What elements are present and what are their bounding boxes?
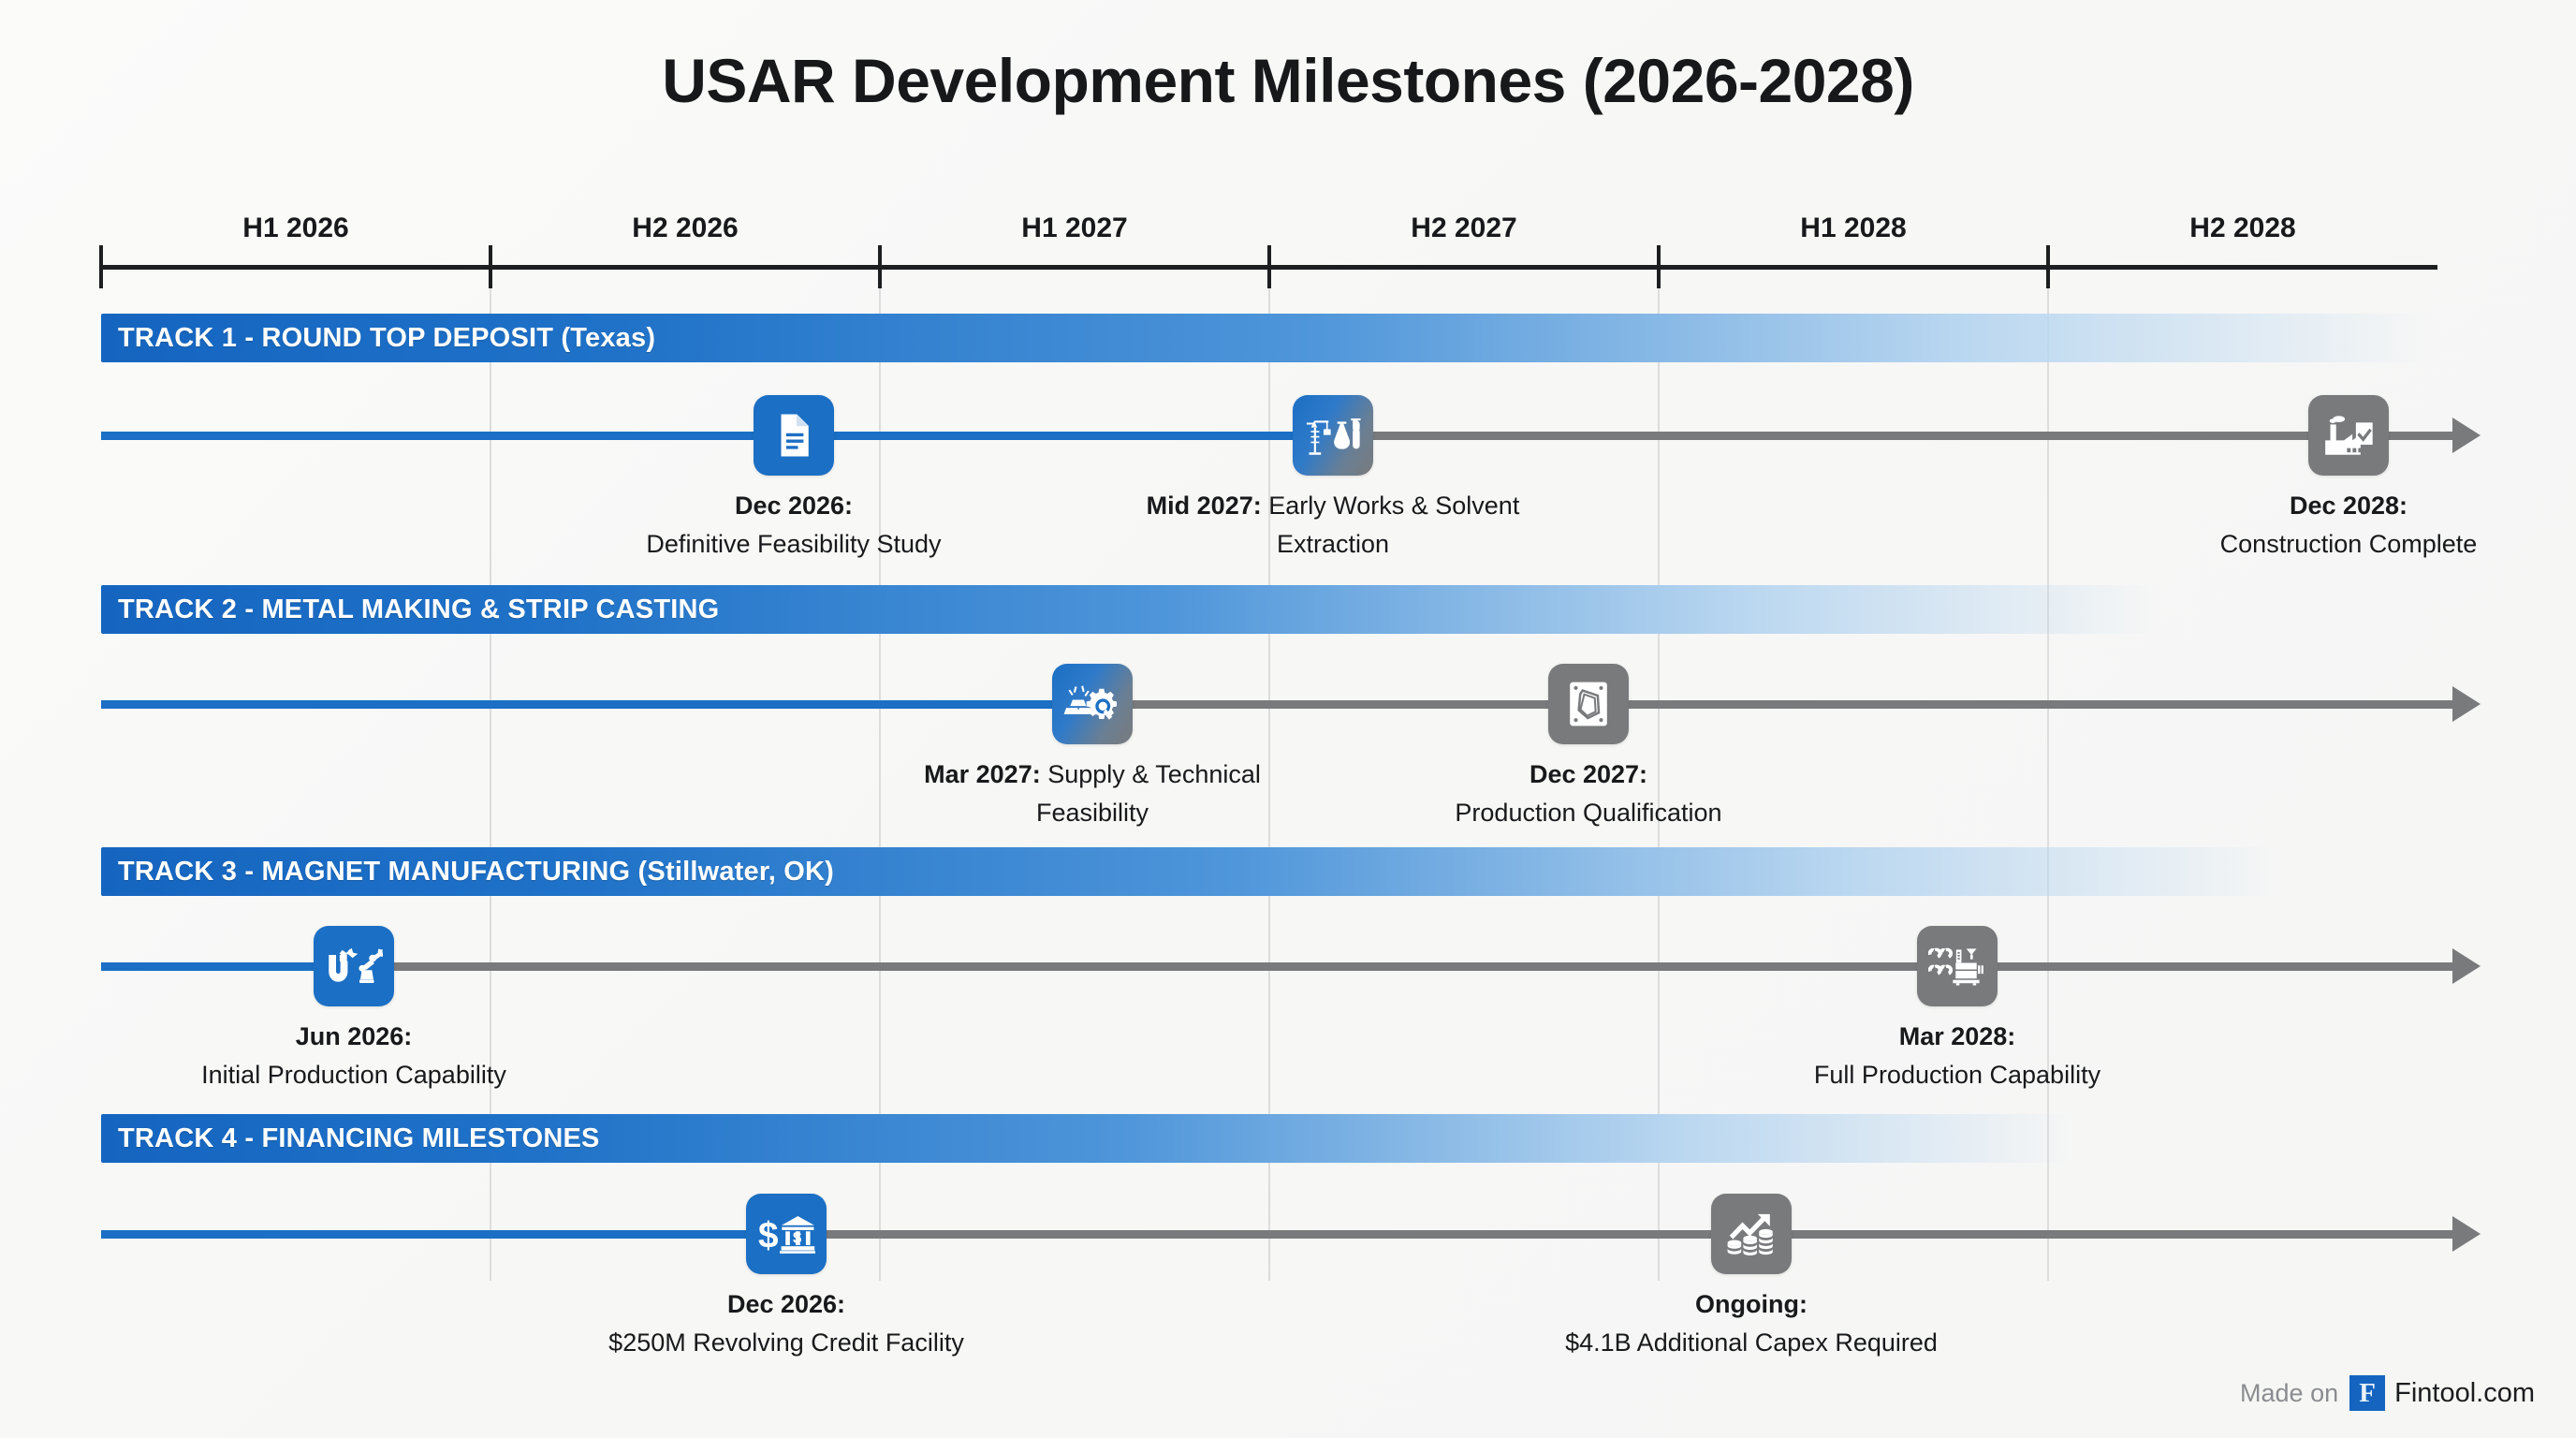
milestone-label: Jun 2026:Initial Production Capability	[0, 1018, 747, 1094]
milestone-label: Dec 2026:Definitive Feasibility Study	[401, 487, 1187, 564]
axis-period-label: H1 2027	[880, 213, 1269, 250]
milestone-date-line: Dec 2026:	[401, 487, 1187, 525]
track-header-label: TRACK 3 - MAGNET MANUFACTURING (Stillwat…	[118, 847, 834, 896]
axis-tick	[1267, 245, 1271, 288]
milestone-date: Dec 2028:	[2290, 492, 2408, 520]
track-header-label: TRACK 4 - FINANCING MILESTONES	[118, 1114, 600, 1163]
milestone-description: Initial Production Capability	[201, 1061, 506, 1089]
milestone-date-line: Dec 2027:	[1195, 756, 1982, 794]
track-header-bar: TRACK 4 - FINANCING MILESTONES	[101, 1114, 2076, 1163]
crane-lab-icon	[1293, 395, 1373, 476]
milestone-date: Mar 2028:	[1899, 1022, 2016, 1050]
track-arrow-icon	[2452, 418, 2481, 453]
axis-period-label: H2 2027	[1269, 213, 1659, 250]
axis-tick	[2046, 245, 2050, 288]
milestone-description: Definitive Feasibility Study	[646, 530, 941, 558]
factory-check-icon	[2308, 395, 2389, 476]
milestone-date: Dec 2026:	[735, 492, 853, 520]
track-header-bar: TRACK 3 - MAGNET MANUFACTURING (Stillwat…	[101, 847, 2282, 896]
axis-period-label: H2 2026	[490, 213, 880, 250]
milestone-date: Dec 2027:	[1529, 760, 1647, 788]
track-header-label: TRACK 1 - ROUND TOP DEPOSIT (Texas)	[118, 314, 655, 362]
milestone-date: Mar 2027:	[924, 760, 1041, 788]
axis-tick	[489, 245, 492, 288]
axis-period-label: H1 2028	[1659, 213, 2048, 250]
milestone-date: Mid 2027:	[1147, 492, 1262, 520]
document-icon	[754, 395, 834, 476]
milestone-date-line: Jun 2026:	[0, 1018, 747, 1056]
axis-period-label: H1 2026	[101, 213, 490, 250]
footer-brand-label: Fintool.com	[2394, 1378, 2535, 1409]
milestone-label: Mid 2027: Early Works & Solvent Extracti…	[1108, 487, 1558, 564]
milestone-description: Early Works & Solvent Extraction	[1268, 492, 1519, 558]
milestone-desc-line: Construction Complete	[1955, 525, 2576, 564]
milestone-description: $4.1B Additional Capex Required	[1565, 1328, 1938, 1357]
footer-made-on-label: Made on	[2240, 1379, 2338, 1408]
track-arrow-icon	[2452, 948, 2481, 984]
milestone-description: Construction Complete	[2220, 530, 2478, 558]
milestone-label: Mar 2028:Full Production Capability	[1564, 1018, 2350, 1094]
milestone-description: Full Production Capability	[1814, 1061, 2100, 1089]
fintool-logo-icon: F	[2349, 1375, 2385, 1411]
milestone-date-line: Dec 2028:	[1955, 487, 2576, 525]
track-header-bar: TRACK 2 - METAL MAKING & STRIP CASTING	[101, 585, 2160, 634]
milestone-desc-line: Definitive Feasibility Study	[401, 525, 1187, 564]
milestone-date: Ongoing:	[1695, 1290, 1808, 1318]
magnets-machine-icon	[1917, 926, 1998, 1006]
track-timeline-line	[101, 432, 2452, 440]
milestone-description: $250M Revolving Credit Facility	[608, 1328, 964, 1357]
track-arrow-icon	[2452, 686, 2481, 722]
milestone-label: Ongoing:$4.1B Additional Capex Required	[1358, 1285, 2144, 1362]
svg-text:$: $	[758, 1216, 779, 1256]
page-title: USAR Development Milestones (2026-2028)	[0, 45, 2576, 116]
milestone-label: Dec 2028:Construction Complete	[1955, 487, 2576, 564]
milestone-date-line: Dec 2026:	[393, 1285, 1179, 1324]
growth-coins-icon	[1711, 1194, 1792, 1274]
axis-period-label: H2 2028	[2048, 213, 2437, 250]
axis-tick	[1657, 245, 1661, 288]
ingot-gear-icon	[1052, 664, 1133, 744]
track-header-label: TRACK 2 - METAL MAKING & STRIP CASTING	[118, 585, 719, 634]
magnet-robot-icon	[314, 926, 394, 1006]
milestone-label: Dec 2026:$250M Revolving Credit Facility	[393, 1285, 1179, 1362]
milestone-desc-line: Initial Production Capability	[0, 1056, 747, 1094]
milestone-label: Dec 2027:Production Qualification	[1195, 756, 1982, 832]
milestone-desc-line: Production Qualification	[1195, 794, 1982, 832]
dollar-bank-icon: $ $	[746, 1194, 827, 1274]
timeline-axis-labels: H1 2026H2 2026H1 2027H2 2027H1 2028H2 20…	[101, 213, 2437, 250]
milestone-desc-line: $4.1B Additional Capex Required	[1358, 1324, 2144, 1362]
metal-strip-icon	[1548, 664, 1629, 744]
track-timeline-line	[101, 1230, 2452, 1239]
milestone-date: Dec 2026:	[727, 1290, 845, 1318]
footer-branding: Made on F Fintool.com	[2240, 1374, 2535, 1412]
milestone-date: Jun 2026:	[296, 1022, 413, 1050]
track-timeline-line	[101, 962, 2452, 971]
track-header-bar: TRACK 1 - ROUND TOP DEPOSIT (Texas)	[101, 314, 2432, 362]
milestone-date-line: Ongoing:	[1358, 1285, 2144, 1324]
milestone-date-line: Mar 2028:	[1564, 1018, 2350, 1056]
milestone-description: Production Qualification	[1455, 799, 1721, 827]
track-timeline-line	[101, 700, 2452, 709]
axis-tick	[99, 245, 103, 288]
svg-text:$: $	[793, 1228, 802, 1246]
milestone-desc-line: $250M Revolving Credit Facility	[393, 1324, 1179, 1362]
milestone-desc-line: Full Production Capability	[1564, 1056, 2350, 1094]
track-arrow-icon	[2452, 1216, 2481, 1252]
infographic-canvas: USAR Development Milestones (2026-2028) …	[0, 0, 2576, 1438]
axis-tick	[878, 245, 882, 288]
